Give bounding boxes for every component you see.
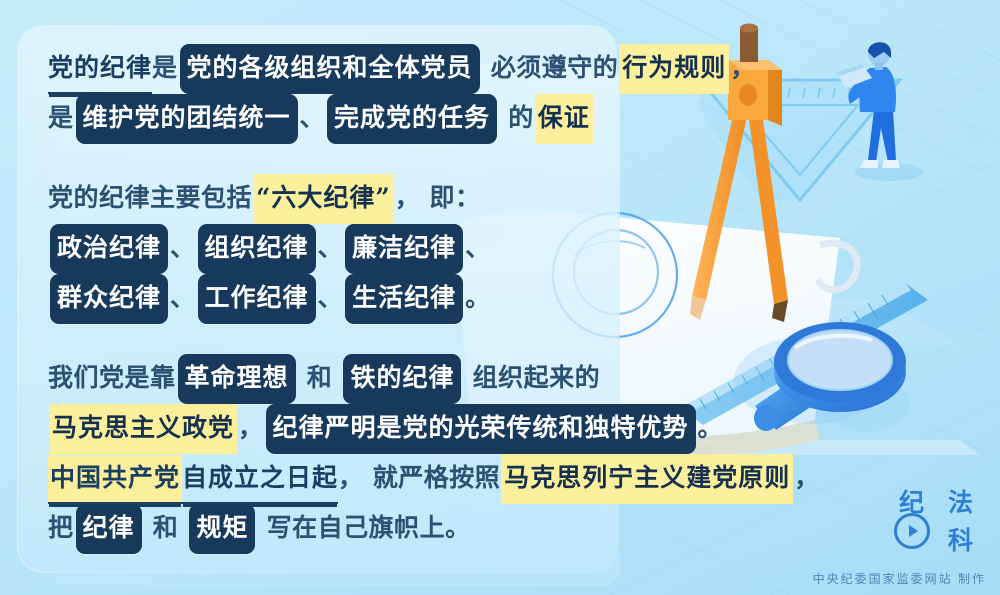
- text-line-p1l2: 是维护党的团结统一、完成党的任务 的保证: [48, 94, 748, 144]
- highlight-run: 马克思主义政党: [49, 404, 237, 454]
- pill-badge: 廉洁纪律: [345, 224, 463, 274]
- highlight-run: 马克思列宁主义建党原则: [501, 454, 793, 504]
- text-run: ，: [238, 413, 264, 442]
- pill-badge: 工作纪律: [198, 274, 316, 324]
- pill-badge: 纪律: [76, 504, 142, 554]
- text-run: 、: [318, 283, 344, 312]
- paragraph-p1: 党的纪律是党的各级组织和全体党员 必须遵守的行为规则，是维护党的团结统一、完成党…: [48, 44, 748, 144]
- logo-char-fa: 法: [937, 483, 984, 519]
- text-run: 写在自己旗帜上。: [257, 513, 470, 542]
- poster-text-block: 党的纪律是党的各级组织和全体党员 必须遵守的行为规则，是维护党的团结统一、完成党…: [48, 44, 748, 560]
- text-run: 的: [499, 103, 534, 132]
- highlight-run: “六大纪律”: [253, 174, 394, 224]
- text-run: 把: [48, 513, 74, 542]
- text-run: 、: [170, 283, 196, 312]
- pill-badge: 生活纪律: [345, 274, 463, 324]
- play-icon: [894, 513, 930, 549]
- text-run: 。: [698, 413, 724, 442]
- poster-canvas: 党的纪律是党的各级组织和全体党员 必须遵守的行为规则，是维护党的团结统一、完成党…: [0, 0, 1000, 595]
- text-line-p3l1: 我们党是靠革命理想 和 铁的纪律 组织起来的: [48, 354, 748, 404]
- text-run: 、: [465, 233, 491, 262]
- pill-badge: 纪律严明是党的光荣传统和独特优势: [266, 404, 696, 454]
- text-line-p2l1: 党的纪律主要包括“六大纪律”， 即：: [48, 174, 748, 224]
- text-run: 必须遵守的: [482, 53, 619, 82]
- text-run: 和: [298, 363, 342, 392]
- paragraph-p2: 党的纪律主要包括“六大纪律”， 即：政治纪律、组织纪律、廉洁纪律、群众纪律、工作…: [48, 174, 748, 324]
- pill-badge: 铁的纪律: [343, 354, 461, 404]
- text-run: 党的纪律主要包括: [48, 183, 252, 212]
- text-line-p3l2: 马克思主义政党，纪律严明是党的光荣传统和独特优势。: [48, 404, 748, 454]
- pill-badge: 规矩: [189, 504, 255, 554]
- text-run: 组织起来的: [463, 363, 600, 392]
- text-line-p2l2: 政治纪律、组织纪律、廉洁纪律、: [48, 224, 748, 274]
- watermark-credit: 中央纪委国家监委网站 制作: [813, 570, 986, 587]
- text-run: 是: [152, 53, 178, 82]
- pill-badge: 党的各级组织和全体党员: [180, 44, 480, 94]
- text-run: 、: [300, 103, 326, 132]
- text-run: ，: [730, 53, 756, 82]
- text-line-p3l4: 把纪律 和 规矩 写在自己旗帜上。: [48, 504, 748, 554]
- highlight-run: 行为规则: [619, 44, 729, 94]
- text-run: 、: [318, 233, 344, 262]
- text-run: 和: [144, 513, 188, 542]
- pill-badge: 维护党的团结统一: [76, 94, 298, 144]
- pill-badge: 革命理想: [178, 354, 296, 404]
- text-line-p2l3: 群众纪律、工作纪律、生活纪律。: [48, 274, 748, 324]
- pill-badge: 完成党的任务: [327, 94, 497, 144]
- pill-badge: 政治纪律: [50, 224, 168, 274]
- text-run: ， 就严格按照: [338, 463, 500, 492]
- text-run: 我们党是靠: [48, 363, 176, 392]
- text-run: ，: [794, 463, 820, 492]
- text-run: ， 即：: [395, 183, 481, 212]
- text-run: 、: [170, 233, 196, 262]
- pill-badge: 群众纪律: [50, 274, 168, 324]
- highlight-run: 保证: [535, 94, 593, 144]
- underlined-run: 党的纪律: [48, 45, 152, 94]
- underlined-run: 自成立之日起: [182, 455, 338, 504]
- text-run: 。: [465, 283, 491, 312]
- text-line-p3l3: 中国共产党自成立之日起， 就严格按照马克思列宁主义建党原则，: [48, 454, 748, 504]
- jifa-kepu-logo: 纪 法 普 科: [888, 483, 984, 551]
- text-run: 是: [48, 103, 74, 132]
- pill-badge: 组织纪律: [198, 224, 316, 274]
- logo-char-ke: 科: [937, 521, 984, 557]
- paragraph-p3: 我们党是靠革命理想 和 铁的纪律 组织起来的马克思主义政党，纪律严明是党的光荣传…: [48, 354, 748, 554]
- text-line-p1l1: 党的纪律是党的各级组织和全体党员 必须遵守的行为规则，: [48, 44, 748, 94]
- underlined-highlight-run: 中国共产党: [48, 455, 182, 504]
